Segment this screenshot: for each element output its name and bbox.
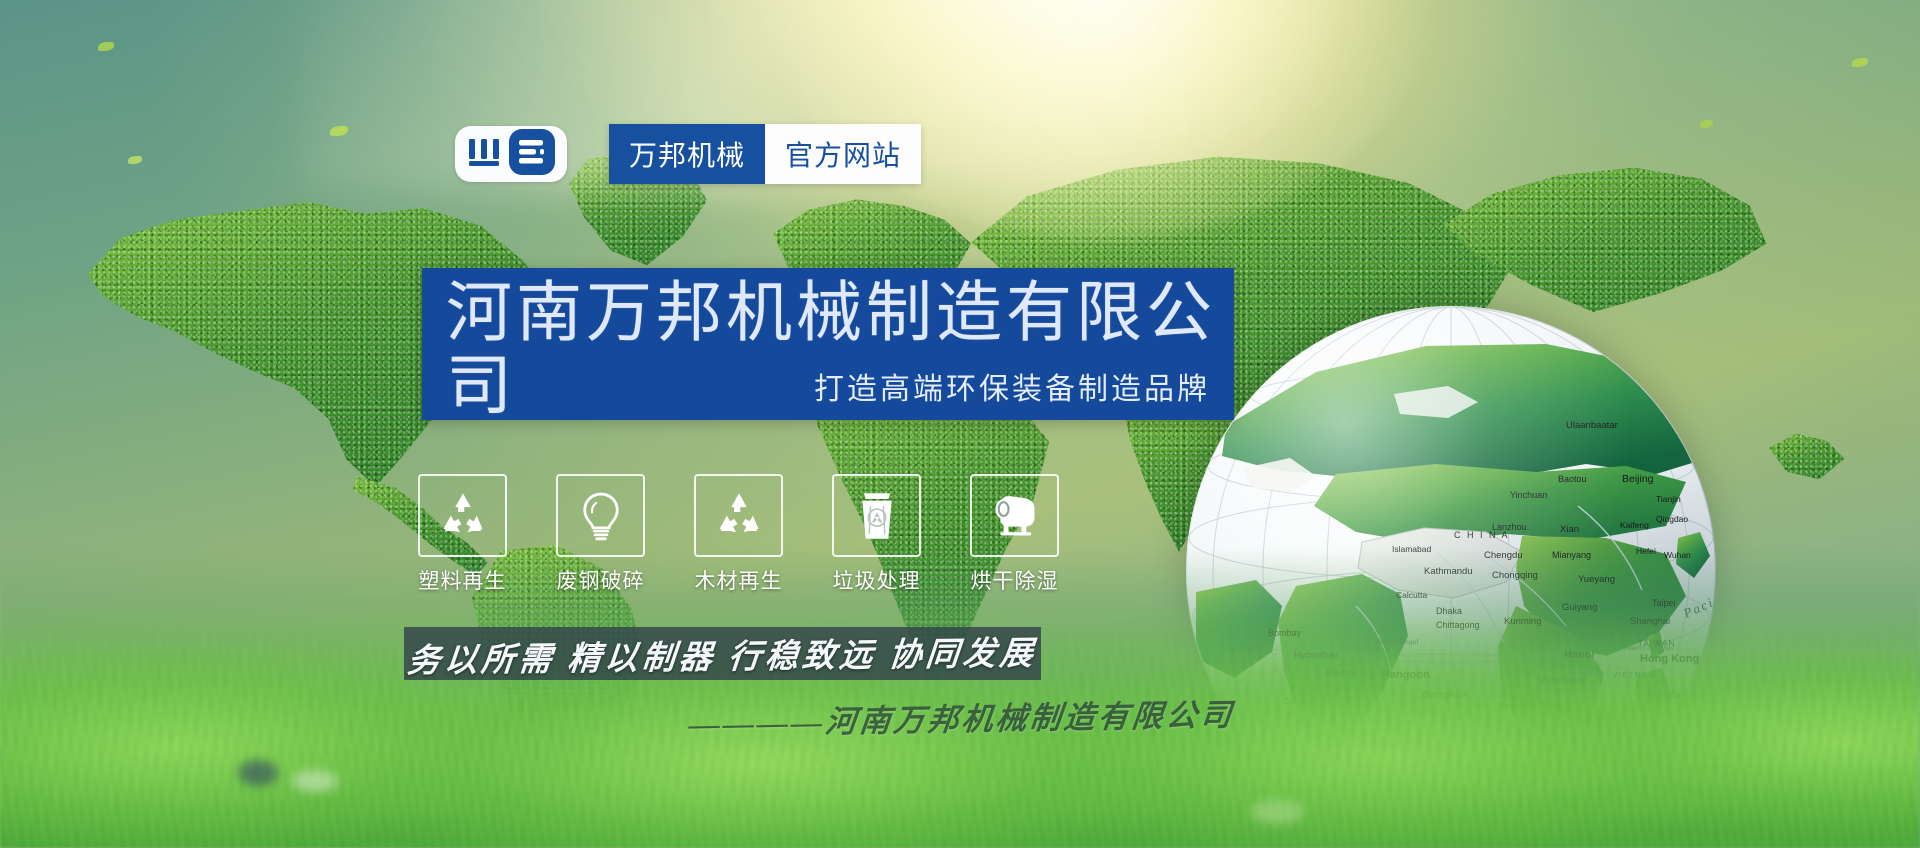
feature-item-drying-dehumidifying[interactable]: 烘干除湿 [970, 474, 1059, 595]
dryer-drum-icon [989, 490, 1041, 542]
feature-label: 烘干除湿 [971, 565, 1059, 595]
svg-text:Baotou: Baotou [1558, 474, 1587, 484]
feature-label: 废钢破碎 [557, 565, 645, 595]
site-logo-row[interactable]: 万邦机械 官方网站 [455, 124, 921, 184]
svg-text:Beijing: Beijing [1622, 473, 1654, 485]
feature-icon-box[interactable] [832, 474, 921, 557]
lightbulb-icon [575, 490, 627, 542]
double-u-mark-icon [465, 133, 505, 176]
hero-banner-stage: Ulaanbaatar Beijing Baotou Yinchuan Tian… [0, 0, 1920, 848]
feature-icon-box[interactable] [418, 474, 507, 557]
company-title-banner: 河南万邦机械制造有限公司 打造高端环保装备制造品牌 [422, 268, 1234, 420]
feature-item-scrap-steel-crushing[interactable]: 废钢破碎 [556, 474, 645, 595]
feature-item-wood-recycling[interactable]: 木材再生 [694, 474, 783, 595]
grass-bokeh-dot [238, 760, 278, 786]
feature-icon-box[interactable] [694, 474, 783, 557]
feature-label: 木材再生 [695, 565, 783, 595]
svg-text:Tianjin: Tianjin [1656, 494, 1681, 504]
recycle-icon [437, 490, 489, 542]
grass-bokeh-dot [1250, 800, 1304, 824]
svg-text:C H I N A: C H I N A [1454, 530, 1510, 540]
grass-bokeh-dot [292, 770, 338, 792]
svg-text:Ulaanbaatar: Ulaanbaatar [1566, 420, 1618, 431]
recycle-icon [713, 490, 765, 542]
feature-label: 垃圾处理 [833, 565, 921, 595]
feature-label: 塑料再生 [419, 565, 507, 595]
feature-item-waste-treatment[interactable]: 垃圾处理 [832, 474, 921, 595]
feature-icon-box[interactable] [970, 474, 1059, 557]
nav-brand-label[interactable]: 万邦机械 [609, 124, 765, 184]
feature-item-plastic-recycling[interactable]: 塑料再生 [418, 474, 507, 595]
feature-icon-box[interactable] [556, 474, 645, 557]
nav-box[interactable]: 万邦机械 官方网站 [609, 124, 921, 184]
nav-official-site-label[interactable]: 官方网站 [765, 124, 921, 184]
slogan-text: 务以所需 精以制器 行稳致远 协同发展 [406, 626, 1040, 682]
slogan-attribution: ————河南万邦机械制造有限公司 [687, 689, 1237, 743]
svg-text:Xian: Xian [1560, 524, 1579, 535]
feature-icon-row: 塑料再生 废钢破碎 [418, 474, 1059, 595]
slogan-bar: 务以所需 精以制器 行稳致远 协同发展 [404, 627, 1041, 680]
company-subtitle: 打造高端环保装备制造品牌 [814, 364, 1210, 408]
svg-text:Kaifeng: Kaifeng [1620, 520, 1649, 530]
b-list-mark-icon [507, 127, 557, 182]
logo-mark[interactable] [455, 126, 567, 182]
svg-text:Qingdao: Qingdao [1656, 514, 1688, 524]
svg-text:Yinchuan: Yinchuan [1510, 490, 1547, 500]
trash-bin-icon [851, 490, 903, 542]
